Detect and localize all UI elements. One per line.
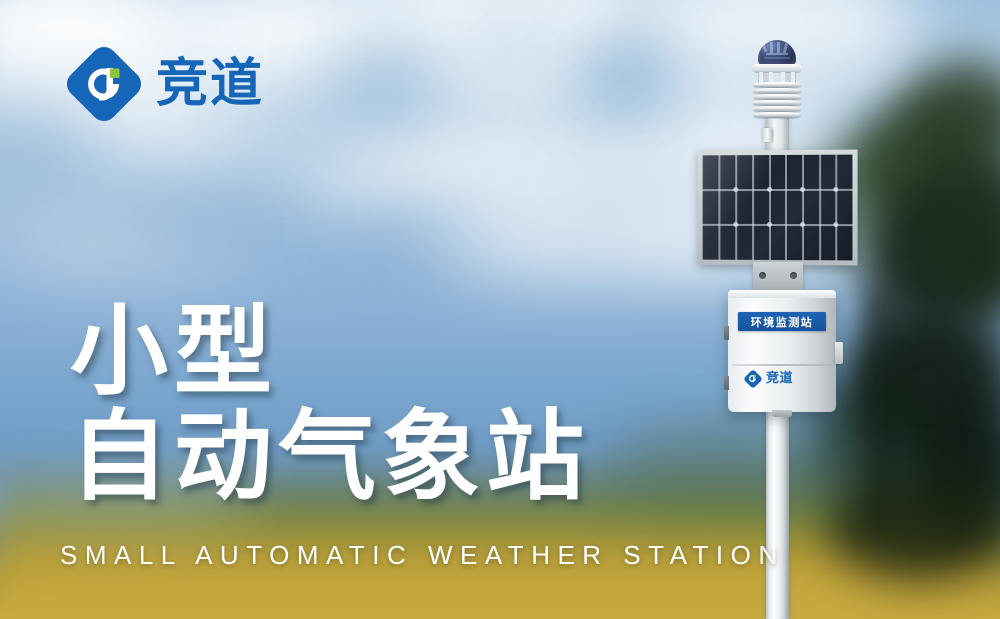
jingdao-diamond-logo-icon — [744, 370, 761, 387]
headline-line-2: 自动气象站 — [70, 405, 590, 510]
enclosure-lid — [728, 290, 836, 298]
brand-name-text: 竞道 — [156, 58, 264, 110]
headline-block: 小型 自动气象站 — [70, 300, 590, 510]
radiation-shield — [753, 82, 801, 122]
enclosure-port-left-upper — [724, 326, 729, 340]
sensor-dome — [758, 40, 796, 66]
solar-panel-cells — [703, 155, 853, 261]
jingdao-diamond-logo-icon — [66, 46, 142, 122]
device-brand-text: 竞道 — [766, 372, 793, 385]
headline-subtitle: SMALL AUTOMATIC WEATHER STATION — [60, 540, 785, 571]
headline-line-1: 小型 — [70, 300, 590, 405]
monitoring-enclosure-box: 环境监测站 竞道 — [728, 290, 836, 412]
ultrasonic-weather-sensor — [748, 40, 806, 150]
enclosure-port-right — [835, 342, 843, 364]
solar-panel-bracket — [753, 262, 803, 292]
enclosure-seam — [732, 364, 832, 366]
solar-panel — [698, 150, 858, 266]
brand-logo[interactable]: 竞道 — [66, 46, 264, 122]
device-banner-text: 环境监测站 — [751, 314, 814, 330]
enclosure-port-left-lower — [724, 376, 729, 390]
device-brand-logo: 竞道 — [744, 370, 793, 387]
enclosure-cable-gland — [772, 410, 792, 417]
sensor-clamp — [762, 128, 773, 142]
device-banner-label: 环境监测站 — [738, 312, 826, 331]
promo-banner: 竞道 小型 自动气象站 SMALL AUTOMATIC WEATHER STAT… — [0, 0, 1000, 619]
